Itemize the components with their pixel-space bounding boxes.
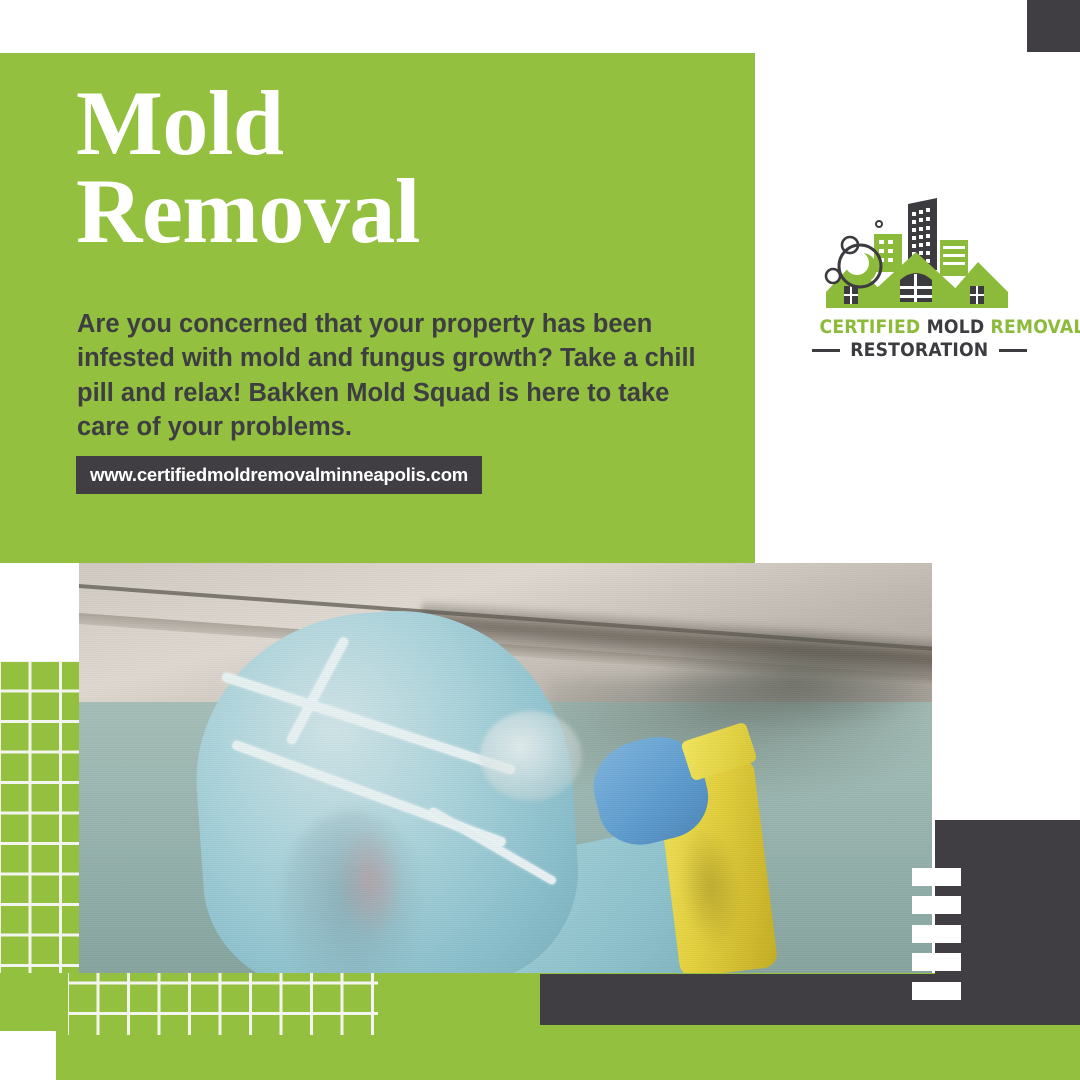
accent-bar [912,868,961,886]
photo-face-mask [480,711,582,801]
accent-bar [912,953,961,971]
houses-and-buildings-with-bubbles-logo-icon [812,196,1027,321]
logo-word-removal: REMOVAL [991,317,1080,338]
logo-wordmark: CERTIFIED MOLD REMOVAL RESTORATION [812,319,1027,360]
logo-wordmark-line-1: CERTIFIED MOLD REMOVAL [820,319,1020,338]
accent-bar [912,925,961,943]
page-title-line-1: Mold [76,72,284,174]
corner-accent-square-top-right [1027,0,1080,52]
body-copy: Are you concerned that your property has… [77,307,702,445]
logo-word-mold: MOLD [927,317,985,338]
page-title: Mold Removal [76,79,736,256]
dark-accent-panel-bottom [540,974,1080,1025]
logo-wordmark-line-2: RESTORATION [812,342,1027,361]
company-logo: CERTIFIED MOLD REMOVAL RESTORATION [812,196,1027,371]
logo-word-certified: CERTIFIED [820,317,921,338]
poster-canvas: Mold Removal Are you concerned that your… [0,0,1080,1080]
website-url-text: www.certifiedmoldremovalminneapolis.com [90,464,468,486]
website-url-bar[interactable]: www.certifiedmoldremovalminneapolis.com [76,456,482,494]
grid-pattern-left [0,661,80,1011]
grid-pattern-bottom-strip [68,973,378,1035]
accent-bar [912,982,961,1000]
logo-word-restoration: RESTORATION [850,342,988,361]
page-title-line-2: Removal [76,167,736,255]
logo-rule-right [999,349,1027,352]
logo-rule-left [812,349,840,352]
hero-photo-mold-remediation-worker [79,563,932,973]
accent-bar [912,896,961,914]
white-notch-bottom-left [0,1031,56,1080]
